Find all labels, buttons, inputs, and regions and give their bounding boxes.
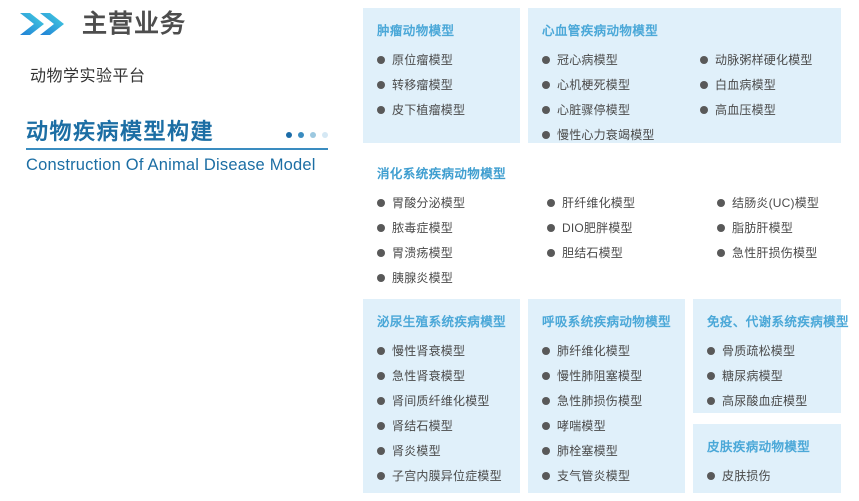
decorative-dot-group xyxy=(286,132,328,138)
list-item-label: 肺栓塞模型 xyxy=(557,442,618,459)
list-item[interactable]: 原位瘤模型 xyxy=(377,47,465,72)
bullet-icon xyxy=(377,224,385,232)
bullet-icon xyxy=(542,472,550,480)
item-column: 动脉粥样硬化模型白血病模型高血压模型 xyxy=(700,47,813,147)
bullet-icon xyxy=(377,422,385,430)
list-item[interactable]: 心脏骤停模型 xyxy=(542,97,700,122)
item-column: 慢性肾衰模型急性肾衰模型肾间质纤维化模型肾结石模型肾炎模型子宫内膜异位症模型 xyxy=(377,338,502,488)
list-item[interactable]: 急性肺损伤模型 xyxy=(542,388,642,413)
bullet-icon xyxy=(377,372,385,380)
list-item-label: 慢性心力衰竭模型 xyxy=(557,126,655,143)
deco-dot-3 xyxy=(310,132,316,138)
deco-dot-2 xyxy=(298,132,304,138)
bullet-icon xyxy=(377,347,385,355)
item-column: 结肠炎(UC)模型脂肪肝模型急性肝损伤模型 xyxy=(717,190,819,290)
panel-cardio: 心血管疾病动物模型冠心病模型心机梗死模型心脏骤停模型慢性心力衰竭模型动脉粥样硬化… xyxy=(528,8,841,143)
list-item[interactable]: 肾炎模型 xyxy=(377,438,502,463)
list-item-label: 转移瘤模型 xyxy=(392,76,453,93)
list-item-label: 胃酸分泌模型 xyxy=(392,194,465,211)
bullet-icon xyxy=(707,347,715,355)
bullet-icon xyxy=(700,81,708,89)
list-item-label: 肾结石模型 xyxy=(392,417,453,434)
list-item-label: 糖尿病模型 xyxy=(722,367,783,384)
list-item-label: 高血压模型 xyxy=(715,101,776,118)
list-item[interactable]: 高血压模型 xyxy=(700,97,813,122)
platform-label: 动物学实验平台 xyxy=(30,62,146,86)
list-item[interactable]: 支气管炎模型 xyxy=(542,463,642,488)
list-item[interactable]: 急性肾衰模型 xyxy=(377,363,502,388)
heading-block: 动物疾病模型构建 Construction Of Animal Disease … xyxy=(26,120,328,175)
list-item[interactable]: 脂肪肝模型 xyxy=(717,215,819,240)
panel-tumor: 肿瘤动物模型原位瘤模型转移瘤模型皮下植瘤模型 xyxy=(363,8,520,143)
list-item[interactable]: 转移瘤模型 xyxy=(377,72,465,97)
list-item[interactable]: 高尿酸血症模型 xyxy=(707,388,807,413)
bullet-icon xyxy=(377,447,385,455)
bullet-icon xyxy=(542,372,550,380)
item-column: 胃酸分泌模型脓毒症模型胃溃疡模型胰腺炎模型 xyxy=(377,190,547,290)
bullet-icon xyxy=(377,472,385,480)
item-column: 骨质疏松模型糖尿病模型高尿酸血症模型 xyxy=(707,338,807,413)
panel-title-tumor: 肿瘤动物模型 xyxy=(377,20,506,39)
bullet-icon xyxy=(717,199,725,207)
bullet-icon xyxy=(717,224,725,232)
item-columns: 慢性肾衰模型急性肾衰模型肾间质纤维化模型肾结石模型肾炎模型子宫内膜异位症模型 xyxy=(377,338,506,488)
bullet-icon xyxy=(707,372,715,380)
item-column: 冠心病模型心机梗死模型心脏骤停模型慢性心力衰竭模型 xyxy=(542,47,700,147)
bullet-icon xyxy=(377,199,385,207)
bullet-icon xyxy=(717,249,725,257)
list-item-label: 骨质疏松模型 xyxy=(722,342,795,359)
list-item[interactable]: 肺栓塞模型 xyxy=(542,438,642,463)
list-item[interactable]: DIO肥胖模型 xyxy=(547,215,717,240)
list-item[interactable]: 胃溃疡模型 xyxy=(377,240,547,265)
deco-dot-1 xyxy=(286,132,292,138)
panel-title-cardio: 心血管疾病动物模型 xyxy=(542,20,827,39)
bullet-icon xyxy=(377,397,385,405)
item-column: 肝纤维化模型DIO肥胖模型胆结石模型 xyxy=(547,190,717,290)
bullet-icon xyxy=(700,106,708,114)
list-item-label: 冠心病模型 xyxy=(557,51,618,68)
bullet-icon xyxy=(377,274,385,282)
list-item-label: 胰腺炎模型 xyxy=(392,269,453,286)
list-item-label: 急性肾衰模型 xyxy=(392,367,465,384)
list-item-label: 肾间质纤维化模型 xyxy=(392,392,490,409)
list-item-label: 心机梗死模型 xyxy=(557,76,630,93)
list-item-label: 肝纤维化模型 xyxy=(562,194,635,211)
bullet-icon xyxy=(542,81,550,89)
bullet-icon xyxy=(542,56,550,64)
item-columns: 冠心病模型心机梗死模型心脏骤停模型慢性心力衰竭模型动脉粥样硬化模型白血病模型高血… xyxy=(542,47,827,147)
list-item[interactable]: 动脉粥样硬化模型 xyxy=(700,47,813,72)
list-item-label: DIO肥胖模型 xyxy=(562,219,633,236)
list-item-label: 心脏骤停模型 xyxy=(557,101,630,118)
bullet-icon xyxy=(542,447,550,455)
panel-title-skin: 皮肤疾病动物模型 xyxy=(707,436,827,455)
list-item-label: 肾炎模型 xyxy=(392,442,441,459)
list-item[interactable]: 肾结石模型 xyxy=(377,413,502,438)
item-columns: 皮肤损伤 xyxy=(707,463,827,488)
item-columns: 原位瘤模型转移瘤模型皮下植瘤模型 xyxy=(377,47,506,122)
list-item[interactable]: 胰腺炎模型 xyxy=(377,265,547,290)
list-item[interactable]: 子宫内膜异位症模型 xyxy=(377,463,502,488)
list-item[interactable]: 急性肝损伤模型 xyxy=(717,240,819,265)
list-item[interactable]: 冠心病模型 xyxy=(542,47,700,72)
list-item-label: 子宫内膜异位症模型 xyxy=(392,467,502,484)
panel-respiratory: 呼吸系统疾病动物模型肺纤维化模型慢性肺阻塞模型急性肺损伤模型哮喘模型肺栓塞模型支… xyxy=(528,299,685,493)
item-column: 皮肤损伤 xyxy=(707,463,771,488)
panel-title-immune: 免疫、代谢系统疾病模型 xyxy=(707,311,827,330)
header-column: 主营业务 动物学实验平台 动物疾病模型构建 Construction Of An… xyxy=(0,0,345,501)
list-item-label: 原位瘤模型 xyxy=(392,51,453,68)
list-item-label: 哮喘模型 xyxy=(557,417,606,434)
page-title: 主营业务 xyxy=(82,12,186,37)
list-item-label: 白血病模型 xyxy=(715,76,776,93)
list-item-label: 胆结石模型 xyxy=(562,244,623,261)
double-chevron-right-icon xyxy=(18,9,68,39)
list-item[interactable]: 骨质疏松模型 xyxy=(707,338,807,363)
list-item[interactable]: 胆结石模型 xyxy=(547,240,717,265)
list-item[interactable]: 心机梗死模型 xyxy=(542,72,700,97)
bullet-icon xyxy=(377,56,385,64)
list-item-label: 急性肺损伤模型 xyxy=(557,392,642,409)
bullet-icon xyxy=(377,249,385,257)
panel-immune: 免疫、代谢系统疾病模型骨质疏松模型糖尿病模型高尿酸血症模型 xyxy=(693,299,841,413)
heading-cn-row: 动物疾病模型构建 xyxy=(26,120,328,148)
bullet-icon xyxy=(542,422,550,430)
list-item[interactable]: 慢性心力衰竭模型 xyxy=(542,122,700,147)
panel-title-respiratory: 呼吸系统疾病动物模型 xyxy=(542,311,671,330)
item-columns: 骨质疏松模型糖尿病模型高尿酸血症模型 xyxy=(707,338,827,413)
bullet-icon xyxy=(707,472,715,480)
list-item[interactable]: 肾间质纤维化模型 xyxy=(377,388,502,413)
panel-title-urogenital: 泌尿生殖系统疾病模型 xyxy=(377,311,506,330)
list-item-label: 慢性肺阻塞模型 xyxy=(557,367,642,384)
panel-skin: 皮肤疾病动物模型皮肤损伤 xyxy=(693,424,841,493)
list-item-label: 急性肝损伤模型 xyxy=(732,244,817,261)
heading-chinese: 动物疾病模型构建 xyxy=(26,120,214,144)
list-item-label: 皮下植瘤模型 xyxy=(392,101,465,118)
list-item-label: 胃溃疡模型 xyxy=(392,244,453,261)
item-columns: 肺纤维化模型慢性肺阻塞模型急性肺损伤模型哮喘模型肺栓塞模型支气管炎模型 xyxy=(542,338,671,488)
list-item-label: 脂肪肝模型 xyxy=(732,219,793,236)
list-item-label: 肺纤维化模型 xyxy=(557,342,630,359)
list-item[interactable]: 糖尿病模型 xyxy=(707,363,807,388)
heading-divider xyxy=(26,148,328,150)
list-item-label: 皮肤损伤 xyxy=(722,467,771,484)
bullet-icon xyxy=(547,224,555,232)
list-item[interactable]: 脓毒症模型 xyxy=(377,215,547,240)
list-item[interactable]: 哮喘模型 xyxy=(542,413,642,438)
list-item-label: 脓毒症模型 xyxy=(392,219,453,236)
list-item-label: 高尿酸血症模型 xyxy=(722,392,807,409)
list-item[interactable]: 胃酸分泌模型 xyxy=(377,190,547,215)
bullet-icon xyxy=(547,249,555,257)
panel-title-digestive: 消化系统疾病动物模型 xyxy=(377,163,827,182)
bullet-icon xyxy=(542,131,550,139)
bullet-icon xyxy=(377,106,385,114)
panel-urogenital: 泌尿生殖系统疾病模型慢性肾衰模型急性肾衰模型肾间质纤维化模型肾结石模型肾炎模型子… xyxy=(363,299,520,493)
bullet-icon xyxy=(700,56,708,64)
deco-dot-4 xyxy=(322,132,328,138)
list-item[interactable]: 慢性肺阻塞模型 xyxy=(542,363,642,388)
item-column: 原位瘤模型转移瘤模型皮下植瘤模型 xyxy=(377,47,465,122)
list-item[interactable]: 白血病模型 xyxy=(700,72,813,97)
list-item-label: 结肠炎(UC)模型 xyxy=(732,194,819,211)
list-item[interactable]: 皮肤损伤 xyxy=(707,463,771,488)
bullet-icon xyxy=(542,397,550,405)
model-panels-grid: 肿瘤动物模型原位瘤模型转移瘤模型皮下植瘤模型 心血管疾病动物模型冠心病模型心机梗… xyxy=(363,8,841,493)
list-item[interactable]: 慢性肾衰模型 xyxy=(377,338,502,363)
heading-english: Construction Of Animal Disease Model xyxy=(26,156,328,175)
list-item-label: 支气管炎模型 xyxy=(557,467,630,484)
list-item-label: 慢性肾衰模型 xyxy=(392,342,465,359)
brand-row: 主营业务 xyxy=(18,9,186,39)
item-columns: 胃酸分泌模型脓毒症模型胃溃疡模型胰腺炎模型肝纤维化模型DIO肥胖模型胆结石模型结… xyxy=(377,190,827,290)
list-item-label: 动脉粥样硬化模型 xyxy=(715,51,813,68)
bullet-icon xyxy=(542,347,550,355)
bullet-icon xyxy=(377,81,385,89)
bullet-icon xyxy=(547,199,555,207)
list-item[interactable]: 肝纤维化模型 xyxy=(547,190,717,215)
panel-digestive: 消化系统疾病动物模型胃酸分泌模型脓毒症模型胃溃疡模型胰腺炎模型肝纤维化模型DIO… xyxy=(363,151,841,291)
item-column: 肺纤维化模型慢性肺阻塞模型急性肺损伤模型哮喘模型肺栓塞模型支气管炎模型 xyxy=(542,338,642,488)
list-item[interactable]: 结肠炎(UC)模型 xyxy=(717,190,819,215)
list-item[interactable]: 肺纤维化模型 xyxy=(542,338,642,363)
bullet-icon xyxy=(542,106,550,114)
bullet-icon xyxy=(707,397,715,405)
list-item[interactable]: 皮下植瘤模型 xyxy=(377,97,465,122)
